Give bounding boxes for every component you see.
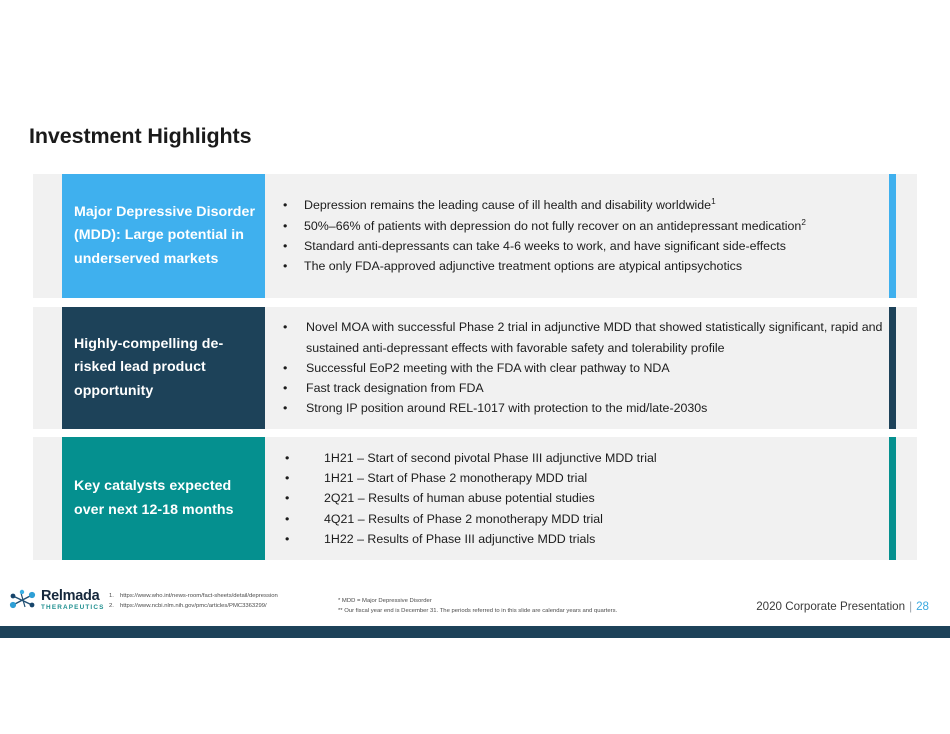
list-item: 2Q21 – Results of human abuse potential … [277,488,889,508]
list-item: 4Q21 – Results of Phase 2 monotherapy MD… [277,509,889,529]
reference-list: 1. https://www.who.int/news-room/fact-sh… [109,592,278,611]
bullet-list: 1H21 – Start of second pivotal Phase III… [277,448,889,549]
panel-left-gutter [33,307,62,429]
presentation-label: 2020 Corporate Presentation [756,600,905,613]
page-title: Investment Highlights [29,124,251,149]
footnote-line: * MDD = Major Depressive Disorder [338,597,617,607]
panel-left-gutter [33,437,62,560]
bullet-text: 1H21 – Start of Phase 2 monotherapy MDD … [324,471,587,485]
panel-left-gutter [33,174,62,298]
panel-right-gutter [896,174,917,298]
panel-heading-block: Key catalysts expected over next 12-18 m… [62,437,265,560]
panel-accent-bar [889,437,896,560]
list-item: The only FDA-approved adjunctive treatme… [277,256,889,276]
list-item: 1H21 – Start of second pivotal Phase III… [277,448,889,468]
list-item: 1H21 – Start of Phase 2 monotherapy MDD … [277,468,889,488]
list-item: 1H22 – Results of Phase III adjunctive M… [277,529,889,549]
panel-heading-block: Highly-compelling de-risked lead product… [62,307,265,429]
panel-body: Depression remains the leading cause of … [265,174,889,298]
footnote-ref: 1 [711,197,716,206]
company-logo: Relmada THERAPEUTICS [8,589,105,611]
panel-body: 1H21 – Start of second pivotal Phase III… [265,437,889,560]
reference-number: 1. [109,592,120,602]
bullet-text: The only FDA-approved adjunctive treatme… [304,259,742,273]
list-item: Standard anti-depressants can take 4-6 w… [277,236,889,256]
bottom-accent-bar [0,626,950,638]
list-item: Fast track designation from FDA [277,378,889,398]
footnote-ref: 2 [801,218,806,227]
bullet-text: Fast track designation from FDA [306,381,484,395]
logo-company-name: Relmada [41,589,105,604]
bullet-text: Strong IP position around REL-1017 with … [306,401,707,415]
panel-accent-bar [889,307,896,429]
footer-separator: | [909,600,912,613]
footnote-line: ** Our fiscal year end is December 31. T… [338,607,617,617]
bullet-text: Depression remains the leading cause of … [304,198,711,212]
list-item: Novel MOA with successful Phase 2 trial … [277,317,889,358]
bullet-text: Novel MOA with successful Phase 2 trial … [306,320,882,354]
bullet-list: Novel MOA with successful Phase 2 trial … [277,317,889,418]
bullet-text: 1H22 – Results of Phase III adjunctive M… [324,532,595,546]
bullet-text: 1H21 – Start of second pivotal Phase III… [324,451,657,465]
panel-heading-block: Major Depressive Disorder (MDD): Large p… [62,174,265,298]
panel-heading-text: Highly-compelling de-risked lead product… [74,333,265,404]
footnote-notes: * MDD = Major Depressive Disorder ** Our… [338,597,617,616]
list-item: Depression remains the leading cause of … [277,195,889,215]
logo-wordmark: Relmada THERAPEUTICS [41,589,105,611]
logo-tagline: THERAPEUTICS [41,605,105,611]
reference-url[interactable]: https://www.who.int/news-room/fact-sheet… [120,592,278,602]
panel-heading-text: Key catalysts expected over next 12-18 m… [74,475,265,522]
page-number: 28 [916,600,929,613]
panel-heading-text: Major Depressive Disorder (MDD): Large p… [74,201,265,272]
bullet-text: 4Q21 – Results of Phase 2 monotherapy MD… [324,512,603,526]
reference-url[interactable]: https://www.ncbi.nlm.nih.gov/pmc/article… [120,602,267,612]
footer-meta: 2020 Corporate Presentation|28 [756,600,929,613]
reference-item: 1. https://www.who.int/news-room/fact-sh… [109,592,278,602]
highlight-panel-key-catalysts: Key catalysts expected over next 12-18 m… [33,437,917,560]
reference-item: 2. https://www.ncbi.nlm.nih.gov/pmc/arti… [109,602,278,612]
bullet-text: Successful EoP2 meeting with the FDA wit… [306,361,670,375]
highlight-panel-lead-product: Highly-compelling de-risked lead product… [33,307,917,429]
list-item: Strong IP position around REL-1017 with … [277,398,889,418]
bullet-list: Depression remains the leading cause of … [277,195,889,276]
list-item: Successful EoP2 meeting with the FDA wit… [277,358,889,378]
bullet-text: 50%–66% of patients with depression do n… [304,219,801,233]
bullet-text: Standard anti-depressants can take 4-6 w… [304,239,786,253]
molecule-icon [8,589,38,611]
highlight-panel-mdd-market: Major Depressive Disorder (MDD): Large p… [33,174,917,298]
panel-right-gutter [896,307,917,429]
list-item: 50%–66% of patients with depression do n… [277,216,889,236]
panel-accent-bar [889,174,896,298]
slide-root: Investment Highlights Major Depressive D… [0,0,950,734]
reference-number: 2. [109,602,120,612]
panel-body: Novel MOA with successful Phase 2 trial … [265,307,889,429]
bullet-text: 2Q21 – Results of human abuse potential … [324,491,595,505]
panel-right-gutter [896,437,917,560]
